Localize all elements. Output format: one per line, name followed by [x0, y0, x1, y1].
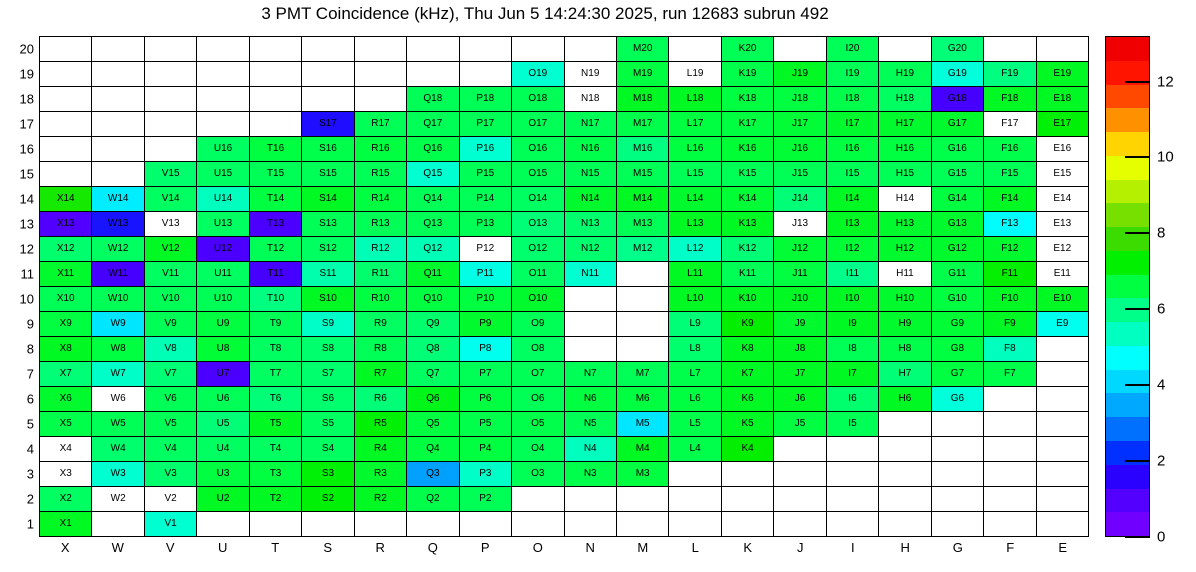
heatmap-cell-J12: J12	[774, 237, 826, 262]
heatmap-cell-W10: W10	[92, 287, 144, 312]
heatmap-cell-empty	[302, 37, 354, 62]
heatmap-cell-P13: P13	[460, 212, 512, 237]
heatmap-cell-H10: H10	[879, 287, 931, 312]
heatmap-cell-empty	[512, 512, 564, 537]
heatmap-cell-empty	[932, 487, 984, 512]
heatmap-cell-P6: P6	[460, 387, 512, 412]
heatmap-cell-Q17: Q17	[407, 112, 459, 137]
heatmap-cell-T11: T11	[250, 262, 302, 287]
heatmap-cell-I14: I14	[827, 187, 879, 212]
y-axis-tick-9: 9	[0, 317, 34, 332]
heatmap-cell-W14: W14	[92, 187, 144, 212]
heatmap-cell-empty	[827, 512, 879, 537]
heatmap-cell-M17: M17	[617, 112, 669, 137]
colorbar-band	[1106, 489, 1149, 513]
heatmap-cell-empty	[92, 137, 144, 162]
heatmap-cell-G19: G19	[932, 62, 984, 87]
heatmap-cell-O4: O4	[512, 437, 564, 462]
heatmap-cell-I10: I10	[827, 287, 879, 312]
heatmap-cell-U11: U11	[197, 262, 249, 287]
heatmap-cell-empty	[774, 487, 826, 512]
heatmap-cell-V7: V7	[145, 362, 197, 387]
colorbar-band	[1106, 156, 1149, 180]
heatmap-cell-V5: V5	[145, 412, 197, 437]
heatmap-cell-empty	[565, 512, 617, 537]
heatmap-cell-K18: K18	[722, 87, 774, 112]
heatmap-cell-empty	[617, 262, 669, 287]
y-axis-tick-2: 2	[0, 492, 34, 507]
heatmap-cell-P16: P16	[460, 137, 512, 162]
heatmap-cell-N19: N19	[565, 62, 617, 87]
x-axis-tick-J: J	[774, 540, 827, 564]
heatmap-cell-L13: L13	[669, 212, 721, 237]
heatmap-cell-H16: H16	[879, 137, 931, 162]
heatmap-cell-F18: F18	[984, 87, 1036, 112]
colorbar-band	[1106, 275, 1149, 299]
heatmap-cell-empty	[197, 112, 249, 137]
y-axis-tick-3: 3	[0, 467, 34, 482]
heatmap-cell-G20: G20	[932, 37, 984, 62]
heatmap-cell-M3: M3	[617, 462, 669, 487]
x-axis-tick-O: O	[512, 540, 565, 564]
heatmap-cell-empty	[984, 437, 1036, 462]
heatmap-cell-S13: S13	[302, 212, 354, 237]
heatmap-cell-Q16: Q16	[407, 137, 459, 162]
heatmap-cell-O17: O17	[512, 112, 564, 137]
heatmap-cell-empty	[92, 162, 144, 187]
heatmap-cell-N18: N18	[565, 87, 617, 112]
heatmap-cell-empty	[145, 112, 197, 137]
heatmap-cell-U14: U14	[197, 187, 249, 212]
heatmap-cell-O12: O12	[512, 237, 564, 262]
heatmap-cell-Q6: Q6	[407, 387, 459, 412]
heatmap-cell-F11: F11	[984, 262, 1036, 287]
x-axis-tick-R: R	[354, 540, 407, 564]
heatmap-cell-M16: M16	[617, 137, 669, 162]
x-axis-tick-Q: Q	[407, 540, 460, 564]
heatmap-cell-empty	[1037, 37, 1089, 62]
heatmap-cell-empty	[302, 62, 354, 87]
heatmap-cell-empty	[827, 437, 879, 462]
heatmap-cell-V6: V6	[145, 387, 197, 412]
heatmap-cell-R4: R4	[355, 437, 407, 462]
heatmap-cell-E9: E9	[1037, 312, 1089, 337]
heatmap-cell-I18: I18	[827, 87, 879, 112]
heatmap-cell-M6: M6	[617, 387, 669, 412]
heatmap-cell-G8: G8	[932, 337, 984, 362]
heatmap-cell-empty	[407, 62, 459, 87]
colorbar-tick-label-4: 4	[1157, 377, 1165, 394]
x-axis-tick-P: P	[459, 540, 512, 564]
heatmap-cell-T5: T5	[250, 412, 302, 437]
heatmap-cell-I6: I6	[827, 387, 879, 412]
heatmap-cell-empty	[355, 87, 407, 112]
heatmap-cell-F9: F9	[984, 312, 1036, 337]
heatmap-cell-F16: F16	[984, 137, 1036, 162]
heatmap-cell-empty	[197, 37, 249, 62]
heatmap-cell-T6: T6	[250, 387, 302, 412]
heatmap-cell-empty	[669, 512, 721, 537]
heatmap-cell-H13: H13	[879, 212, 931, 237]
heatmap-cell-M14: M14	[617, 187, 669, 212]
heatmap-cell-empty	[145, 37, 197, 62]
heatmap-cell-I15: I15	[827, 162, 879, 187]
heatmap-cell-W9: W9	[92, 312, 144, 337]
heatmap-cell-P7: P7	[460, 362, 512, 387]
heatmap-cell-S10: S10	[302, 287, 354, 312]
heatmap-cell-L4: L4	[669, 437, 721, 462]
heatmap-cell-empty	[92, 512, 144, 537]
heatmap-cell-G11: G11	[932, 262, 984, 287]
heatmap-cell-J7: J7	[774, 362, 826, 387]
colorbar-tick-label-10: 10	[1157, 149, 1174, 166]
heatmap-cell-K7: K7	[722, 362, 774, 387]
heatmap-cell-empty	[774, 512, 826, 537]
heatmap-cell-U8: U8	[197, 337, 249, 362]
heatmap-cell-empty	[197, 87, 249, 112]
heatmap-cell-V11: V11	[145, 262, 197, 287]
heatmap-cell-empty	[250, 512, 302, 537]
y-axis-tick-7: 7	[0, 367, 34, 382]
heatmap-cell-T7: T7	[250, 362, 302, 387]
heatmap-cell-X3: X3	[40, 462, 92, 487]
y-axis-tick-8: 8	[0, 342, 34, 357]
heatmap-cell-empty	[827, 462, 879, 487]
heatmap-cell-Q18: Q18	[407, 87, 459, 112]
x-axis-tick-V: V	[144, 540, 197, 564]
heatmap-cell-G12: G12	[932, 237, 984, 262]
heatmap-cell-V13: V13	[145, 212, 197, 237]
heatmap-cell-O6: O6	[512, 387, 564, 412]
heatmap-cell-empty	[722, 512, 774, 537]
heatmap-cell-P10: P10	[460, 287, 512, 312]
heatmap-cell-V8: V8	[145, 337, 197, 362]
colorbar-tick-label-6: 6	[1157, 301, 1165, 318]
heatmap-cell-S3: S3	[302, 462, 354, 487]
heatmap-cell-V2: V2	[145, 487, 197, 512]
heatmap-cell-empty	[984, 37, 1036, 62]
heatmap-plot-area: M20K20I20G20O19N19M19L19K19J19I19H19G19F…	[39, 36, 1089, 537]
heatmap-cell-P8: P8	[460, 337, 512, 362]
heatmap-cell-T10: T10	[250, 287, 302, 312]
heatmap-cell-G6: G6	[932, 387, 984, 412]
heatmap-cell-L5: L5	[669, 412, 721, 437]
heatmap-cell-empty	[1037, 412, 1089, 437]
colorbar-band	[1106, 512, 1149, 536]
colorbar-band	[1106, 227, 1149, 251]
heatmap-cell-S5: S5	[302, 412, 354, 437]
heatmap-cell-empty	[250, 62, 302, 87]
heatmap-cell-I19: I19	[827, 62, 879, 87]
heatmap-cell-F19: F19	[984, 62, 1036, 87]
heatmap-cell-R9: R9	[355, 312, 407, 337]
heatmap-cell-E12: E12	[1037, 237, 1089, 262]
heatmap-cell-E19: E19	[1037, 62, 1089, 87]
heatmap-cell-empty	[92, 112, 144, 137]
heatmap-cell-empty	[197, 62, 249, 87]
y-axis-tick-16: 16	[0, 141, 34, 156]
heatmap-cell-J13: J13	[774, 212, 826, 237]
heatmap-cell-O11: O11	[512, 262, 564, 287]
heatmap-cell-empty	[879, 512, 931, 537]
heatmap-cell-I17: I17	[827, 112, 879, 137]
heatmap-cell-M18: M18	[617, 87, 669, 112]
heatmap-cell-empty	[984, 412, 1036, 437]
heatmap-cell-empty	[40, 62, 92, 87]
heatmap-cell-S9: S9	[302, 312, 354, 337]
heatmap-cell-N17: N17	[565, 112, 617, 137]
heatmap-cell-empty	[774, 437, 826, 462]
x-axis-tick-K: K	[722, 540, 775, 564]
colorbar-tick-label-8: 8	[1157, 225, 1165, 242]
heatmap-cell-Q3: Q3	[407, 462, 459, 487]
heatmap-cell-U2: U2	[197, 487, 249, 512]
heatmap-cell-L16: L16	[669, 137, 721, 162]
heatmap-cell-E15: E15	[1037, 162, 1089, 187]
y-axis-tick-10: 10	[0, 292, 34, 307]
heatmap-cell-Q9: Q9	[407, 312, 459, 337]
x-axis-tick-E: E	[1037, 540, 1090, 564]
x-axis-tick-W: W	[92, 540, 145, 564]
heatmap-cell-S6: S6	[302, 387, 354, 412]
heatmap-cell-V15: V15	[145, 162, 197, 187]
heatmap-cell-L6: L6	[669, 387, 721, 412]
heatmap-cell-K17: K17	[722, 112, 774, 137]
colorbar-tick-label-12: 12	[1157, 73, 1174, 90]
heatmap-grid: M20K20I20G20O19N19M19L19K19J19I19H19G19F…	[39, 36, 1089, 537]
heatmap-cell-empty	[984, 462, 1036, 487]
heatmap-cell-empty	[932, 437, 984, 462]
heatmap-cell-empty	[617, 487, 669, 512]
page-title: 3 PMT Coincidence (kHz), Thu Jun 5 14:24…	[0, 4, 1090, 24]
heatmap-cell-I16: I16	[827, 137, 879, 162]
heatmap-cell-S4: S4	[302, 437, 354, 462]
heatmap-cell-U13: U13	[197, 212, 249, 237]
heatmap-cell-K16: K16	[722, 137, 774, 162]
heatmap-cell-W13: W13	[92, 212, 144, 237]
colorbar-band	[1106, 417, 1149, 441]
heatmap-cell-empty	[1037, 437, 1089, 462]
y-axis-tick-12: 12	[0, 241, 34, 256]
heatmap-cell-U10: U10	[197, 287, 249, 312]
heatmap-cell-G7: G7	[932, 362, 984, 387]
heatmap-cell-S12: S12	[302, 237, 354, 262]
heatmap-cell-M7: M7	[617, 362, 669, 387]
heatmap-cell-N11: N11	[565, 262, 617, 287]
heatmap-cell-F12: F12	[984, 237, 1036, 262]
heatmap-cell-empty	[669, 487, 721, 512]
heatmap-cell-T3: T3	[250, 462, 302, 487]
heatmap-cell-G13: G13	[932, 212, 984, 237]
x-axis-tick-F: F	[984, 540, 1037, 564]
y-axis-tick-18: 18	[0, 91, 34, 106]
heatmap-cell-L15: L15	[669, 162, 721, 187]
heatmap-cell-M12: M12	[617, 237, 669, 262]
heatmap-cell-X2: X2	[40, 487, 92, 512]
colorbar-band	[1106, 61, 1149, 85]
heatmap-cell-Q10: Q10	[407, 287, 459, 312]
heatmap-cell-T8: T8	[250, 337, 302, 362]
heatmap-cell-Q15: Q15	[407, 162, 459, 187]
heatmap-cell-P3: P3	[460, 462, 512, 487]
heatmap-cell-W6: W6	[92, 387, 144, 412]
heatmap-cell-V9: V9	[145, 312, 197, 337]
heatmap-cell-W12: W12	[92, 237, 144, 262]
heatmap-cell-H15: H15	[879, 162, 931, 187]
heatmap-cell-S7: S7	[302, 362, 354, 387]
heatmap-cell-S2: S2	[302, 487, 354, 512]
colorbar-band	[1106, 370, 1149, 394]
heatmap-cell-O9: O9	[512, 312, 564, 337]
heatmap-cell-V14: V14	[145, 187, 197, 212]
y-axis-tick-11: 11	[0, 266, 34, 281]
heatmap-cell-G17: G17	[932, 112, 984, 137]
heatmap-cell-M5: M5	[617, 412, 669, 437]
heatmap-cell-P14: P14	[460, 187, 512, 212]
x-axis-tick-L: L	[669, 540, 722, 564]
heatmap-cell-I8: I8	[827, 337, 879, 362]
heatmap-cell-L10: L10	[669, 287, 721, 312]
heatmap-cell-M20: M20	[617, 37, 669, 62]
heatmap-cell-empty	[1037, 387, 1089, 412]
heatmap-cell-K6: K6	[722, 387, 774, 412]
heatmap-cell-L8: L8	[669, 337, 721, 362]
heatmap-cell-N16: N16	[565, 137, 617, 162]
heatmap-cell-N3: N3	[565, 462, 617, 487]
heatmap-cell-U7: U7	[197, 362, 249, 387]
colorbar-band	[1106, 298, 1149, 322]
y-axis-tick-13: 13	[0, 216, 34, 231]
heatmap-cell-N5: N5	[565, 412, 617, 437]
heatmap-cell-M13: M13	[617, 212, 669, 237]
colorbar-band	[1106, 180, 1149, 204]
heatmap-cell-V1: V1	[145, 512, 197, 537]
heatmap-cell-empty	[984, 487, 1036, 512]
heatmap-cell-I5: I5	[827, 412, 879, 437]
y-axis-tick-5: 5	[0, 417, 34, 432]
heatmap-cell-J19: J19	[774, 62, 826, 87]
heatmap-cell-empty	[827, 487, 879, 512]
colorbar-band	[1106, 108, 1149, 132]
heatmap-cell-K19: K19	[722, 62, 774, 87]
colorbar-band	[1106, 203, 1149, 227]
heatmap-cell-R2: R2	[355, 487, 407, 512]
heatmap-cell-X4: X4	[40, 437, 92, 462]
heatmap-cell-empty	[879, 412, 931, 437]
heatmap-cell-V12: V12	[145, 237, 197, 262]
heatmap-cell-U4: U4	[197, 437, 249, 462]
heatmap-cell-empty	[460, 37, 512, 62]
heatmap-cell-G15: G15	[932, 162, 984, 187]
heatmap-cell-E14: E14	[1037, 187, 1089, 212]
heatmap-cell-Q11: Q11	[407, 262, 459, 287]
heatmap-cell-empty	[879, 462, 931, 487]
heatmap-cell-U16: U16	[197, 137, 249, 162]
heatmap-cell-R7: R7	[355, 362, 407, 387]
heatmap-cell-empty	[984, 512, 1036, 537]
heatmap-cell-T15: T15	[250, 162, 302, 187]
heatmap-cell-O3: O3	[512, 462, 564, 487]
heatmap-cell-G16: G16	[932, 137, 984, 162]
heatmap-cell-H18: H18	[879, 87, 931, 112]
heatmap-cell-P17: P17	[460, 112, 512, 137]
heatmap-cell-K13: K13	[722, 212, 774, 237]
heatmap-cell-T12: T12	[250, 237, 302, 262]
heatmap-cell-J16: J16	[774, 137, 826, 162]
heatmap-cell-N13: N13	[565, 212, 617, 237]
heatmap-cell-empty	[932, 462, 984, 487]
heatmap-cell-R16: R16	[355, 137, 407, 162]
heatmap-cell-empty	[407, 37, 459, 62]
heatmap-cell-empty	[460, 62, 512, 87]
heatmap-cell-empty	[774, 37, 826, 62]
heatmap-cell-Q8: Q8	[407, 337, 459, 362]
heatmap-cell-Q2: Q2	[407, 487, 459, 512]
colorbar-band	[1106, 465, 1149, 489]
heatmap-cell-X13: X13	[40, 212, 92, 237]
heatmap-cell-empty	[617, 512, 669, 537]
heatmap-cell-empty	[669, 37, 721, 62]
heatmap-cell-F13: F13	[984, 212, 1036, 237]
heatmap-cell-T16: T16	[250, 137, 302, 162]
heatmap-cell-L12: L12	[669, 237, 721, 262]
heatmap-cell-P9: P9	[460, 312, 512, 337]
heatmap-cell-V3: V3	[145, 462, 197, 487]
heatmap-cell-W4: W4	[92, 437, 144, 462]
heatmap-cell-H19: H19	[879, 62, 931, 87]
heatmap-cell-J9: J9	[774, 312, 826, 337]
x-axis-tick-G: G	[932, 540, 985, 564]
heatmap-cell-empty	[669, 462, 721, 487]
heatmap-cell-O10: O10	[512, 287, 564, 312]
heatmap-cell-H17: H17	[879, 112, 931, 137]
heatmap-cell-O16: O16	[512, 137, 564, 162]
heatmap-cell-K10: K10	[722, 287, 774, 312]
heatmap-cell-R12: R12	[355, 237, 407, 262]
y-axis-tick-20: 20	[0, 41, 34, 56]
pmt-coincidence-plot: 3 PMT Coincidence (kHz), Thu Jun 5 14:24…	[0, 0, 1196, 572]
heatmap-cell-empty	[355, 62, 407, 87]
heatmap-cell-J5: J5	[774, 412, 826, 437]
heatmap-cell-V10: V10	[145, 287, 197, 312]
heatmap-cell-O5: O5	[512, 412, 564, 437]
heatmap-cell-W5: W5	[92, 412, 144, 437]
heatmap-cell-empty	[565, 37, 617, 62]
heatmap-cell-empty	[617, 337, 669, 362]
heatmap-cell-P11: P11	[460, 262, 512, 287]
y-axis-tick-17: 17	[0, 116, 34, 131]
heatmap-cell-O7: O7	[512, 362, 564, 387]
colorbar-band	[1106, 37, 1149, 61]
heatmap-cell-empty	[92, 62, 144, 87]
heatmap-cell-H12: H12	[879, 237, 931, 262]
heatmap-cell-Q5: Q5	[407, 412, 459, 437]
heatmap-cell-S15: S15	[302, 162, 354, 187]
heatmap-cell-U15: U15	[197, 162, 249, 187]
heatmap-cell-empty	[1037, 487, 1089, 512]
heatmap-cell-P18: P18	[460, 87, 512, 112]
heatmap-cell-K11: K11	[722, 262, 774, 287]
heatmap-cell-empty	[512, 487, 564, 512]
x-axis-tick-T: T	[249, 540, 302, 564]
heatmap-cell-K15: K15	[722, 162, 774, 187]
heatmap-cell-empty	[40, 162, 92, 187]
heatmap-cell-L17: L17	[669, 112, 721, 137]
heatmap-cell-K5: K5	[722, 412, 774, 437]
heatmap-cell-X10: X10	[40, 287, 92, 312]
heatmap-cell-empty	[984, 387, 1036, 412]
heatmap-cell-F7: F7	[984, 362, 1036, 387]
